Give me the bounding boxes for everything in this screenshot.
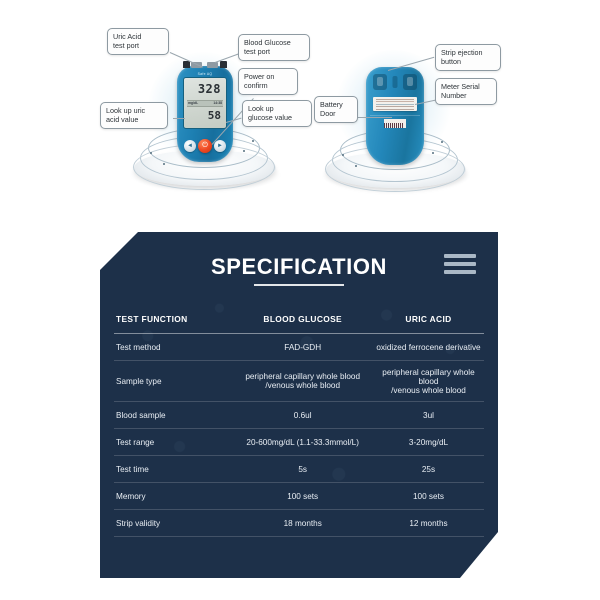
glucose-strip [207, 62, 218, 68]
swirl-dot [163, 163, 165, 165]
cell-line: peripheral capillary whole blood [232, 372, 373, 381]
row-label: Sample type [114, 377, 232, 386]
callout-look-up-glucose[interactable]: Look up glucose value [242, 100, 312, 127]
row-label: Strip validity [114, 519, 232, 528]
cell-line: peripheral capillary whole blood [373, 368, 484, 386]
battery-door-seam [370, 115, 420, 116]
table-header-row: TEST FUNCTION BLOOD GLUCOSE URIC ACID [114, 314, 484, 334]
swirl-dot [432, 152, 434, 154]
device-brand-label: Safe AQ [177, 72, 233, 76]
row-label: Blood sample [114, 411, 232, 420]
blood-glucose-test-port[interactable] [220, 61, 227, 68]
table-row: Blood sample 0.6ul 3ul [114, 402, 484, 429]
row-label: Test time [114, 465, 232, 474]
page-title: SPECIFICATION [100, 254, 498, 280]
lcd-unit-label: mg/dL [188, 101, 198, 105]
cell-line: 100 sets [373, 492, 484, 501]
row-label: Test range [114, 438, 232, 447]
look-up-uric-acid-button[interactable]: ◄ [184, 140, 196, 152]
lcd-glucose-value: 58 [208, 109, 221, 122]
cell-line: 20-600mg/dL (1.1-33.3mmol/L) [232, 438, 373, 447]
cell-line: 3-20mg/dL [373, 438, 484, 447]
row-uric-value: 3-20mg/dL [373, 438, 484, 447]
cell-line: 25s [373, 465, 484, 474]
row-label: Test method [114, 343, 232, 352]
callout-blood-glucose-test-port[interactable]: Blood Glucose test port [238, 34, 310, 61]
back-center-slot [393, 76, 398, 88]
specification-panel: SPECIFICATION TEST FUNCTION BLOOD GLUCOS… [100, 232, 498, 578]
row-glucose-value: FAD-GDH [232, 343, 373, 352]
hamburger-icon[interactable] [444, 254, 476, 278]
column-header-uric-acid: URIC ACID [373, 314, 484, 324]
table-row: Test time 5s 25s [114, 456, 484, 483]
row-glucose-value: 20-600mg/dL (1.1-33.3mmol/L) [232, 438, 373, 447]
row-glucose-value: 0.6ul [232, 411, 373, 420]
cell-line: /venous whole blood [373, 386, 484, 395]
table-row: Strip validity 18 months 12 months [114, 510, 484, 537]
cell-line: 100 sets [232, 492, 373, 501]
swirl-dot [150, 152, 152, 154]
lcd-time-label: 14:38 [213, 101, 222, 105]
device-button-row: ◄ ⏻ ► [177, 139, 233, 155]
meter-back-body [366, 67, 424, 165]
swirl-dot [252, 140, 254, 142]
column-header-test-function: TEST FUNCTION [114, 314, 232, 324]
barcode-icon [384, 119, 406, 128]
swirl-dot [441, 141, 443, 143]
title-underline [254, 284, 344, 286]
table-row: Test method FAD-GDH oxidized ferrocene d… [114, 334, 484, 361]
callout-meter-serial-number[interactable]: Meter Serial Number [435, 78, 497, 105]
table-row: Memory 100 sets 100 sets [114, 483, 484, 510]
look-up-glucose-button[interactable]: ► [214, 140, 226, 152]
device-lcd-screen: 328 mg/dL 14:38 58 [183, 77, 227, 129]
row-uric-value: 100 sets [373, 492, 484, 501]
row-glucose-value: 100 sets [232, 492, 373, 501]
cell-line: oxidized ferrocene derivative [373, 343, 484, 352]
strip-ejection-button-secondary[interactable] [403, 74, 417, 90]
row-glucose-value: 18 months [232, 519, 373, 528]
cell-line: 0.6ul [232, 411, 373, 420]
cell-line: 3ul [373, 411, 484, 420]
row-uric-value: 12 months [373, 519, 484, 528]
callout-look-up-uric-acid[interactable]: Look up uric acid value [100, 102, 168, 129]
product-spec-page: Safe AQ 328 mg/dL 14:38 58 ◄ ⏻ ► [0, 0, 600, 600]
specification-table: TEST FUNCTION BLOOD GLUCOSE URIC ACID Te… [114, 314, 484, 537]
row-uric-value: 25s [373, 465, 484, 474]
row-uric-value: 3ul [373, 411, 484, 420]
right-arrow-icon: ► [214, 140, 226, 152]
product-diagram: Safe AQ 328 mg/dL 14:38 58 ◄ ⏻ ► [0, 0, 600, 215]
row-label: Memory [114, 492, 232, 501]
callout-uric-acid-test-port[interactable]: Uric Acid test port [107, 28, 169, 55]
cell-line: 18 months [232, 519, 373, 528]
row-uric-value: oxidized ferrocene derivative [373, 343, 484, 352]
cell-line: 12 months [373, 519, 484, 528]
meter-front-body: Safe AQ 328 mg/dL 14:38 58 ◄ ⏻ ► [177, 66, 233, 162]
row-uric-value: peripheral capillary whole blood /venous… [373, 368, 484, 395]
row-glucose-value: 5s [232, 465, 373, 474]
cell-line: /venous whole blood [232, 381, 373, 390]
table-row: Test range 20-600mg/dL (1.1-33.3mmol/L) … [114, 429, 484, 456]
left-arrow-icon: ◄ [184, 140, 196, 152]
cell-line: FAD-GDH [232, 343, 373, 352]
leader-line-battery-door [352, 117, 392, 118]
swirl-dot [243, 150, 245, 152]
strip-ejection-button[interactable] [373, 74, 387, 90]
swirl-dot [355, 165, 357, 167]
column-header-blood-glucose: BLOOD GLUCOSE [232, 314, 373, 324]
table-row: Sample type peripheral capillary whole b… [114, 361, 484, 402]
row-glucose-value: peripheral capillary whole blood /venous… [232, 372, 373, 390]
uric-acid-test-port[interactable] [183, 61, 190, 68]
callout-battery-door[interactable]: Battery Door [314, 96, 358, 123]
callout-power-on-confirm[interactable]: Power on confirm [238, 68, 298, 95]
meter-serial-number-label [373, 97, 417, 111]
power-on-confirm-button[interactable]: ⏻ [198, 139, 212, 153]
swirl-dot [342, 154, 344, 156]
leader-line-uric-value [173, 118, 185, 119]
cell-line: 5s [232, 465, 373, 474]
callout-strip-ejection-button[interactable]: Strip ejection button [435, 44, 501, 71]
lcd-uric-acid-value: 328 [198, 82, 221, 96]
